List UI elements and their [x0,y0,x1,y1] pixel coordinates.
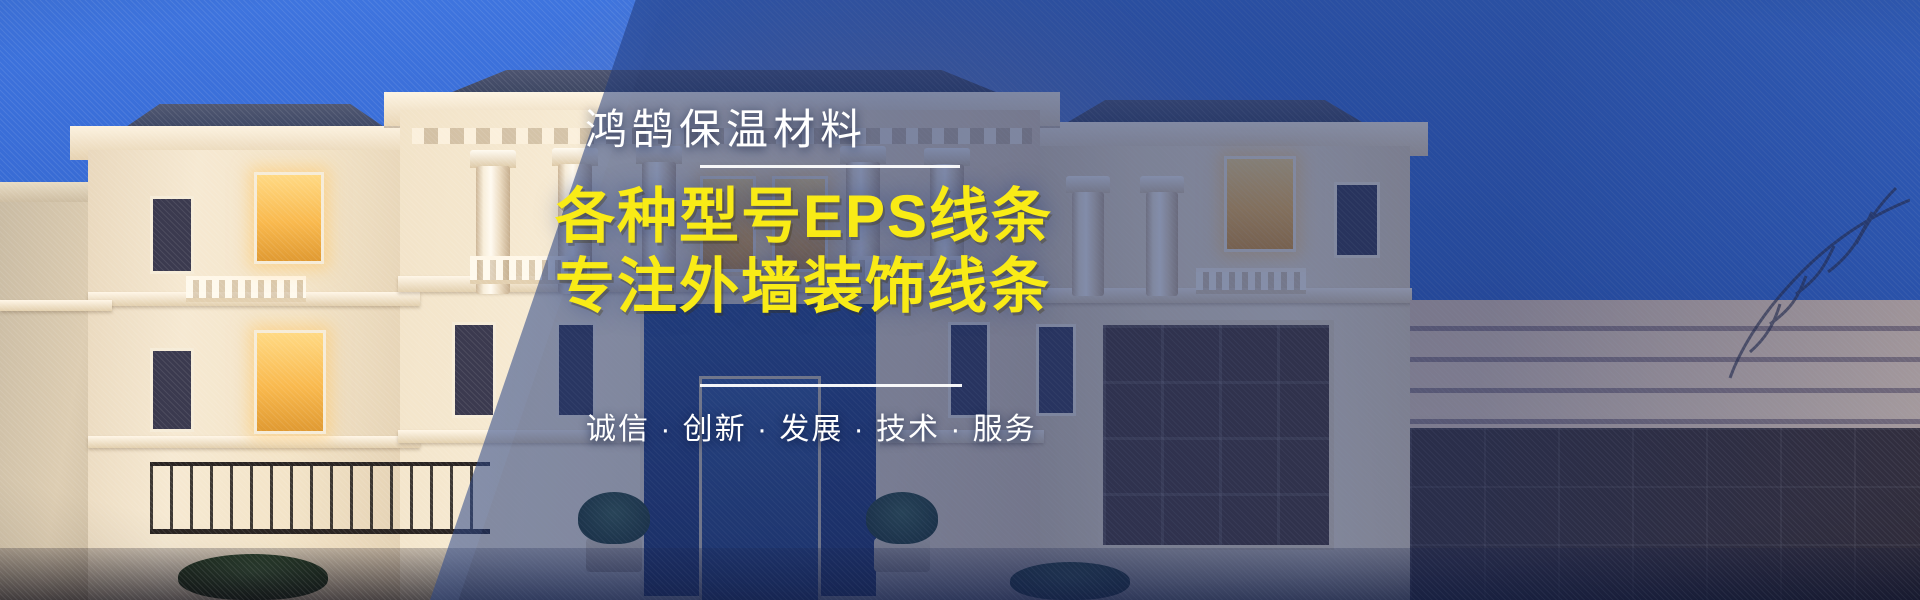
promo-banner: 鸿鹄保温材料 各种型号EPS线条 专注外墙装饰线条 诚信 · 创新 · 发展 ·… [0,0,1920,600]
headline-line-2: 专注外墙装饰线条 [555,252,1053,322]
banner-text-block: 鸿鹄保温材料 各种型号EPS线条 专注外墙装饰线条 诚信 · 创新 · 发展 ·… [0,0,1920,600]
headline-line-1: 各种型号EPS线条 [555,183,1053,250]
tagline: 诚信 · 创新 · 发展 · 技术 · 服务 [586,404,1006,448]
divider-bottom [700,384,962,387]
brand-name: 鸿鹄保温材料 [585,104,867,157]
headline: 各种型号EPS线条 专注外墙装饰线条 [555,182,1053,321]
divider-top [700,165,960,168]
